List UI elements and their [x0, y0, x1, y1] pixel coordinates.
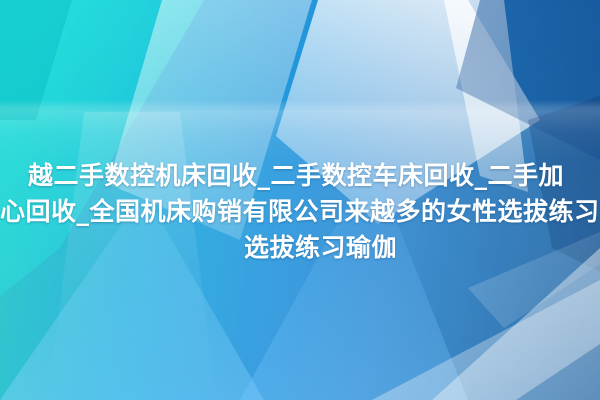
banner-image: 越二手数控机床回收_二手数控车床回收_二手加 心回收_全国机床购销有限公司来越多…	[0, 0, 600, 400]
banner-headline: 越二手数控机床回收_二手数控车床回收_二手加 心回收_全国机床购销有限公司来越多…	[28, 158, 600, 266]
headline-line-3: 选拔练习瑜伽	[244, 230, 600, 266]
headline-line-1: 越二手数控机床回收_二手数控车床回收_二手加	[28, 158, 600, 194]
headline-line-2: 心回收_全国机床购销有限公司来越多的女性选拔练习	[0, 194, 600, 230]
